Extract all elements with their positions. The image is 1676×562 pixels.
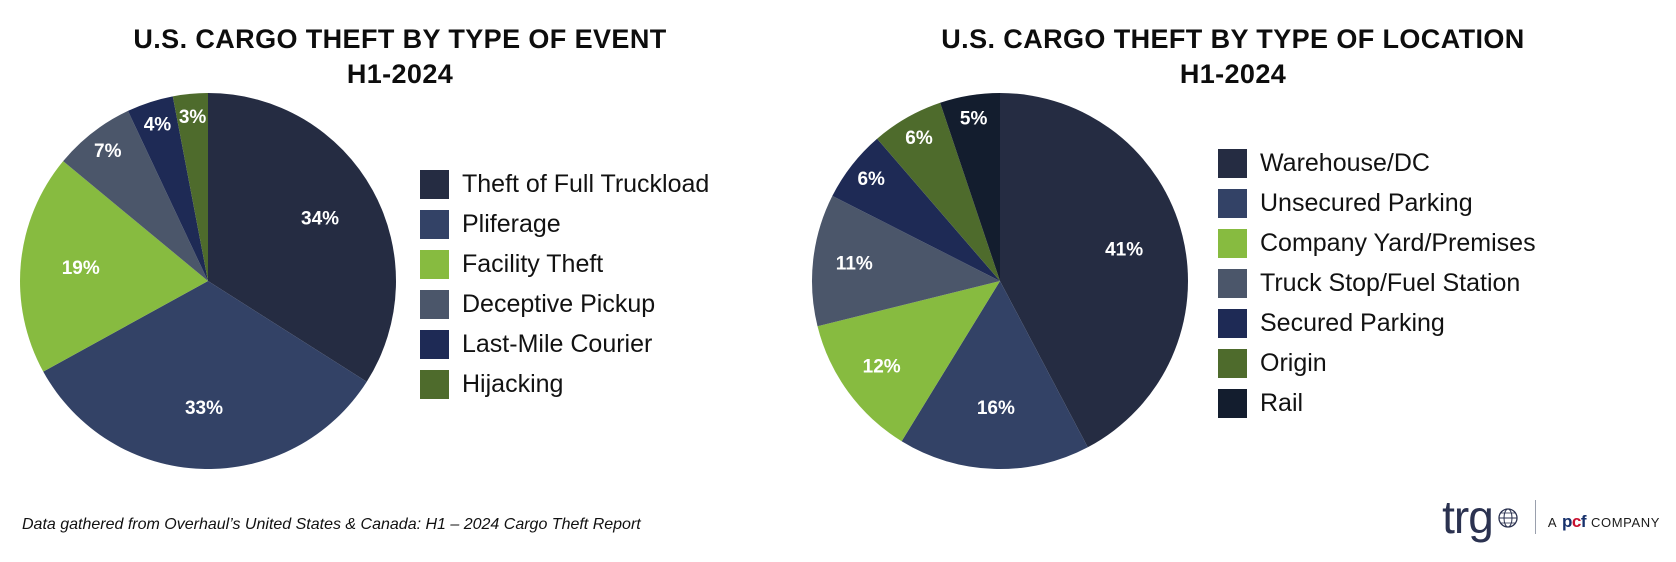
location-slice-label: 16%	[977, 398, 1015, 419]
location-slice-label: 6%	[857, 169, 885, 190]
pcf-letter-p: p	[1562, 512, 1572, 531]
legend-location: Warehouse/DCUnsecured ParkingCompany Yar…	[1218, 143, 1536, 423]
legend-swatch	[420, 290, 449, 319]
legend-label: Company Yard/Premises	[1260, 231, 1536, 256]
legend-item[interactable]: Warehouse/DC	[1218, 143, 1536, 183]
logo-tagline-suffix: COMPANY	[1591, 515, 1660, 530]
legend-item[interactable]: Company Yard/Premises	[1218, 223, 1536, 263]
source-footnote: Data gathered from Overhaul’s United Sta…	[22, 516, 641, 534]
legend-swatch	[1218, 309, 1247, 338]
legend-swatch	[420, 170, 449, 199]
event-slice-label: 19%	[62, 258, 100, 279]
legend-item[interactable]: Hijacking	[420, 364, 709, 404]
legend-swatch	[420, 370, 449, 399]
legend-swatch	[420, 210, 449, 239]
legend-label: Secured Parking	[1260, 311, 1445, 336]
pie-chart-location: 41%16%12%11%6%6%5%	[810, 91, 1190, 471]
pie-wrap-event: 34%33%19%7%4%3%	[18, 91, 398, 471]
globe-icon	[1495, 504, 1521, 535]
chart-title-event-line2: H1-2024	[0, 57, 800, 92]
legend-label: Pliferage	[462, 212, 561, 237]
legend-swatch	[1218, 189, 1247, 218]
legend-label: Theft of Full Truckload	[462, 172, 709, 197]
location-slice-label: 11%	[836, 254, 873, 275]
chart-title-location: U.S. CARGO THEFT BY TYPE OF LOCATION H1-…	[790, 0, 1676, 91]
chart-panel-location: U.S. CARGO THEFT BY TYPE OF LOCATION H1-…	[790, 0, 1676, 480]
legend-item[interactable]: Origin	[1218, 343, 1536, 383]
location-slice-label: 41%	[1105, 239, 1143, 260]
legend-item[interactable]: Last-Mile Courier	[420, 324, 709, 364]
chart-body-event: 34%33%19%7%4%3% Theft of Full TruckloadP…	[0, 91, 800, 471]
location-slice-label: 12%	[863, 357, 901, 378]
legend-swatch	[420, 250, 449, 279]
legend-item[interactable]: Secured Parking	[1218, 303, 1536, 343]
legend-label: Facility Theft	[462, 252, 603, 277]
chart-body-location: 41%16%12%11%6%6%5% Warehouse/DCUnsecured…	[790, 91, 1676, 471]
trg-logo[interactable]: trg A pcf COMPANY	[1442, 478, 1660, 538]
logo-divider	[1535, 500, 1536, 534]
location-slice-label: 6%	[905, 128, 933, 149]
chart-title-location-line2: H1-2024	[790, 57, 1676, 92]
pcf-letter-f: f	[1581, 512, 1586, 531]
legend-label: Warehouse/DC	[1260, 151, 1430, 176]
infographic-page: U.S. CARGO THEFT BY TYPE OF EVENT H1-202…	[0, 0, 1676, 562]
event-slice-label: 4%	[144, 115, 172, 136]
legend-label: Hijacking	[462, 372, 563, 397]
legend-swatch	[1218, 389, 1247, 418]
legend-item[interactable]: Rail	[1218, 383, 1536, 423]
pcf-letter-c: c	[1572, 512, 1581, 531]
chart-title-event-line1: U.S. CARGO THEFT BY TYPE OF EVENT	[133, 24, 666, 54]
chart-title-location-line1: U.S. CARGO THEFT BY TYPE OF LOCATION	[941, 24, 1524, 54]
logo-tagline: A pcf COMPANY	[1548, 512, 1660, 532]
legend-swatch	[1218, 149, 1247, 178]
event-slice-label: 34%	[301, 209, 339, 230]
logo-wordmark: trg	[1442, 496, 1493, 538]
logo-mark: trg	[1442, 496, 1521, 538]
legend-swatch	[1218, 349, 1247, 378]
event-slice-label: 3%	[179, 107, 207, 128]
legend-swatch	[1218, 229, 1247, 258]
location-slice-label: 5%	[960, 109, 988, 130]
legend-item[interactable]: Deceptive Pickup	[420, 284, 709, 324]
legend-item[interactable]: Truck Stop/Fuel Station	[1218, 263, 1536, 303]
legend-label: Deceptive Pickup	[462, 292, 655, 317]
chart-title-event: U.S. CARGO THEFT BY TYPE OF EVENT H1-202…	[0, 0, 800, 91]
legend-event: Theft of Full TruckloadPliferageFacility…	[420, 164, 709, 404]
legend-label: Origin	[1260, 351, 1327, 376]
legend-swatch	[420, 330, 449, 359]
pie-chart-event: 34%33%19%7%4%3%	[18, 91, 398, 471]
legend-label: Unsecured Parking	[1260, 191, 1473, 216]
legend-swatch	[1218, 269, 1247, 298]
logo-tagline-prefix: A	[1548, 515, 1557, 530]
legend-item[interactable]: Theft of Full Truckload	[420, 164, 709, 204]
legend-item[interactable]: Unsecured Parking	[1218, 183, 1536, 223]
legend-label: Truck Stop/Fuel Station	[1260, 271, 1520, 296]
chart-panel-event: U.S. CARGO THEFT BY TYPE OF EVENT H1-202…	[0, 0, 800, 480]
legend-label: Rail	[1260, 391, 1303, 416]
event-slice-label: 33%	[185, 398, 223, 419]
event-slice-label: 7%	[94, 141, 122, 162]
pcf-brandmark: pcf	[1562, 512, 1586, 532]
pie-wrap-location: 41%16%12%11%6%6%5%	[810, 91, 1190, 471]
legend-item[interactable]: Facility Theft	[420, 244, 709, 284]
legend-item[interactable]: Pliferage	[420, 204, 709, 244]
legend-label: Last-Mile Courier	[462, 332, 652, 357]
